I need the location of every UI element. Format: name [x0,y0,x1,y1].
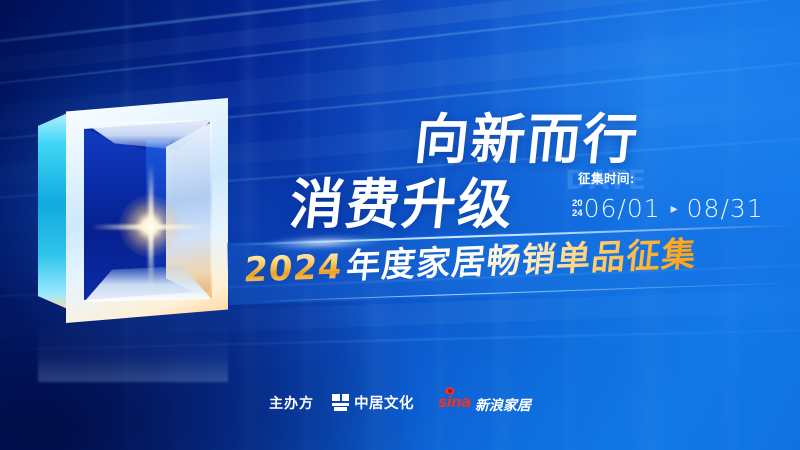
star-flare-icon [150,226,152,228]
brand-sina-label: 新浪家居 [475,398,531,412]
date-year-stack: 20 24 [572,199,583,218]
promo-banner: 向新而行 消费升级 DATE 征集时间: 20 24 06/01 ▸ 08/31… [0,0,800,450]
footer-sponsors: 主办方 中居文化 sina 新浪家居 [0,392,800,413]
door-reflection [38,322,228,382]
brand-zhongju-label: 中居文化 [354,392,414,413]
subtitle-year: 2024 [242,247,349,291]
3d-glass-door-portal [38,98,228,323]
host-label: 主办方 [269,393,314,413]
date-year-bottom: 24 [572,209,583,219]
date-end: 08/31 [687,194,764,223]
headline-line-1: 向新而行 [412,113,642,167]
brand-zhongju-culture: 中居文化 [332,392,414,413]
date-range-row: 20 24 06/01 ▸ 08/31 [572,194,782,223]
sina-wordmark: sina [438,393,471,411]
date-start: 06/01 [584,194,661,223]
date-separator-icon: ▸ [671,200,678,217]
headline-line-2: 消费升级 [287,178,517,232]
brand-sina-home: sina 新浪家居 [438,394,531,412]
door-frame-left-face [38,112,70,310]
date-label: 征集时间: [578,168,782,187]
subtitle-rest: 年度家居畅销单品征集 [344,235,698,287]
zhongju-square-logo-icon [332,394,349,411]
sina-logo: sina [438,394,471,412]
sina-eye-icon [445,387,454,394]
date-block: DATE 征集时间: 20 24 06/01 ▸ 08/31 [572,168,782,223]
